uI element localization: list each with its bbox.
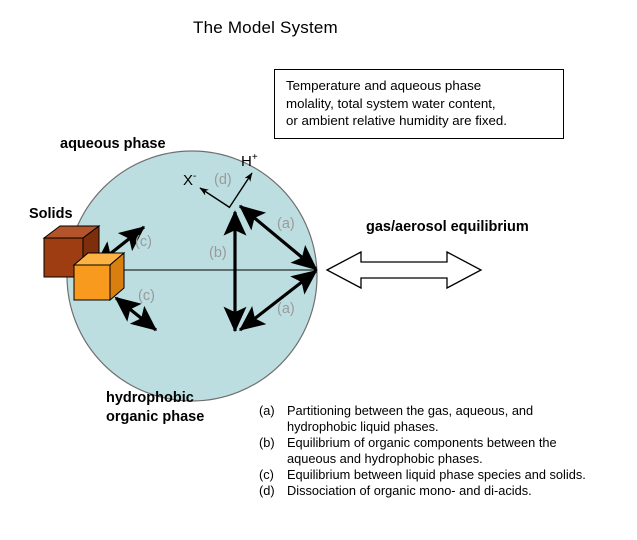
legend-text-c-line-1: Equilibrium between liquid phase species… [287,467,586,482]
legend-item-b: (b) Equilibrium of organic components be… [259,435,619,467]
legend-key-c: (c) [259,467,287,483]
label-solids: Solids [29,206,73,222]
gas-aerosol-block-arrow [327,252,481,288]
legend-text-b-line-2: aqueous and hydrophobic phases. [287,451,557,467]
assumptions-line-1: Temperature and aqueous phase [286,77,554,95]
label-hydrogen-ion-symbol: H [241,153,252,170]
legend-text-a: Partitioning between the gas, aqueous, a… [287,403,533,435]
diagram-canvas: The Model System Temperature and aqueous… [0,0,637,540]
label-hydrophobic-line-1: hydrophobic [106,389,204,408]
solid-cube-orange [74,253,124,300]
legend-key-b: (b) [259,435,287,451]
marker-a-upper: (a) [277,216,295,232]
legend-item-c: (c) Equilibrium between liquid phase spe… [259,467,619,483]
legend-text-b-line-1: Equilibrium of organic components betwee… [287,435,557,450]
label-anion: X- [183,171,196,189]
legend-text-c: Equilibrium between liquid phase species… [287,467,586,483]
label-hydrogen-ion-charge: + [252,152,258,163]
marker-d: (d) [214,172,232,188]
label-hydrogen-ion: H+ [241,152,258,170]
legend-text-a-line-2: hydrophobic liquid phases. [287,419,533,435]
legend-key-d: (d) [259,483,287,499]
label-hydrophobic-organic-phase: hydrophobic organic phase [106,389,204,427]
legend-text-a-line-1: Partitioning between the gas, aqueous, a… [287,403,533,418]
legend-item-d: (d) Dissociation of organic mono- and di… [259,483,619,499]
marker-c-upper: (c) [135,234,152,250]
assumptions-callout-box: Temperature and aqueous phase molality, … [274,69,564,139]
legend-text-d-line-1: Dissociation of organic mono- and di-aci… [287,483,532,498]
label-anion-symbol: X [183,172,193,189]
page-title: The Model System [193,18,338,38]
marker-a-lower: (a) [277,301,295,317]
legend-key-a: (a) [259,403,287,419]
marker-c-lower: (c) [138,288,155,304]
legend: (a) Partitioning between the gas, aqueou… [259,403,619,499]
solid-cube-orange-front [74,265,110,300]
label-gas-aerosol-equilibrium: gas/aerosol equilibrium [366,219,529,235]
assumptions-line-2: molality, total system water content, [286,95,554,113]
marker-b: (b) [209,245,227,261]
assumptions-line-3: or ambient relative humidity are fixed. [286,112,554,130]
label-aqueous-phase: aqueous phase [60,136,166,152]
legend-text-d: Dissociation of organic mono- and di-aci… [287,483,532,499]
label-hydrophobic-line-2: organic phase [106,408,204,427]
label-anion-charge: - [193,171,196,182]
legend-text-b: Equilibrium of organic components betwee… [287,435,557,467]
legend-item-a: (a) Partitioning between the gas, aqueou… [259,403,619,435]
